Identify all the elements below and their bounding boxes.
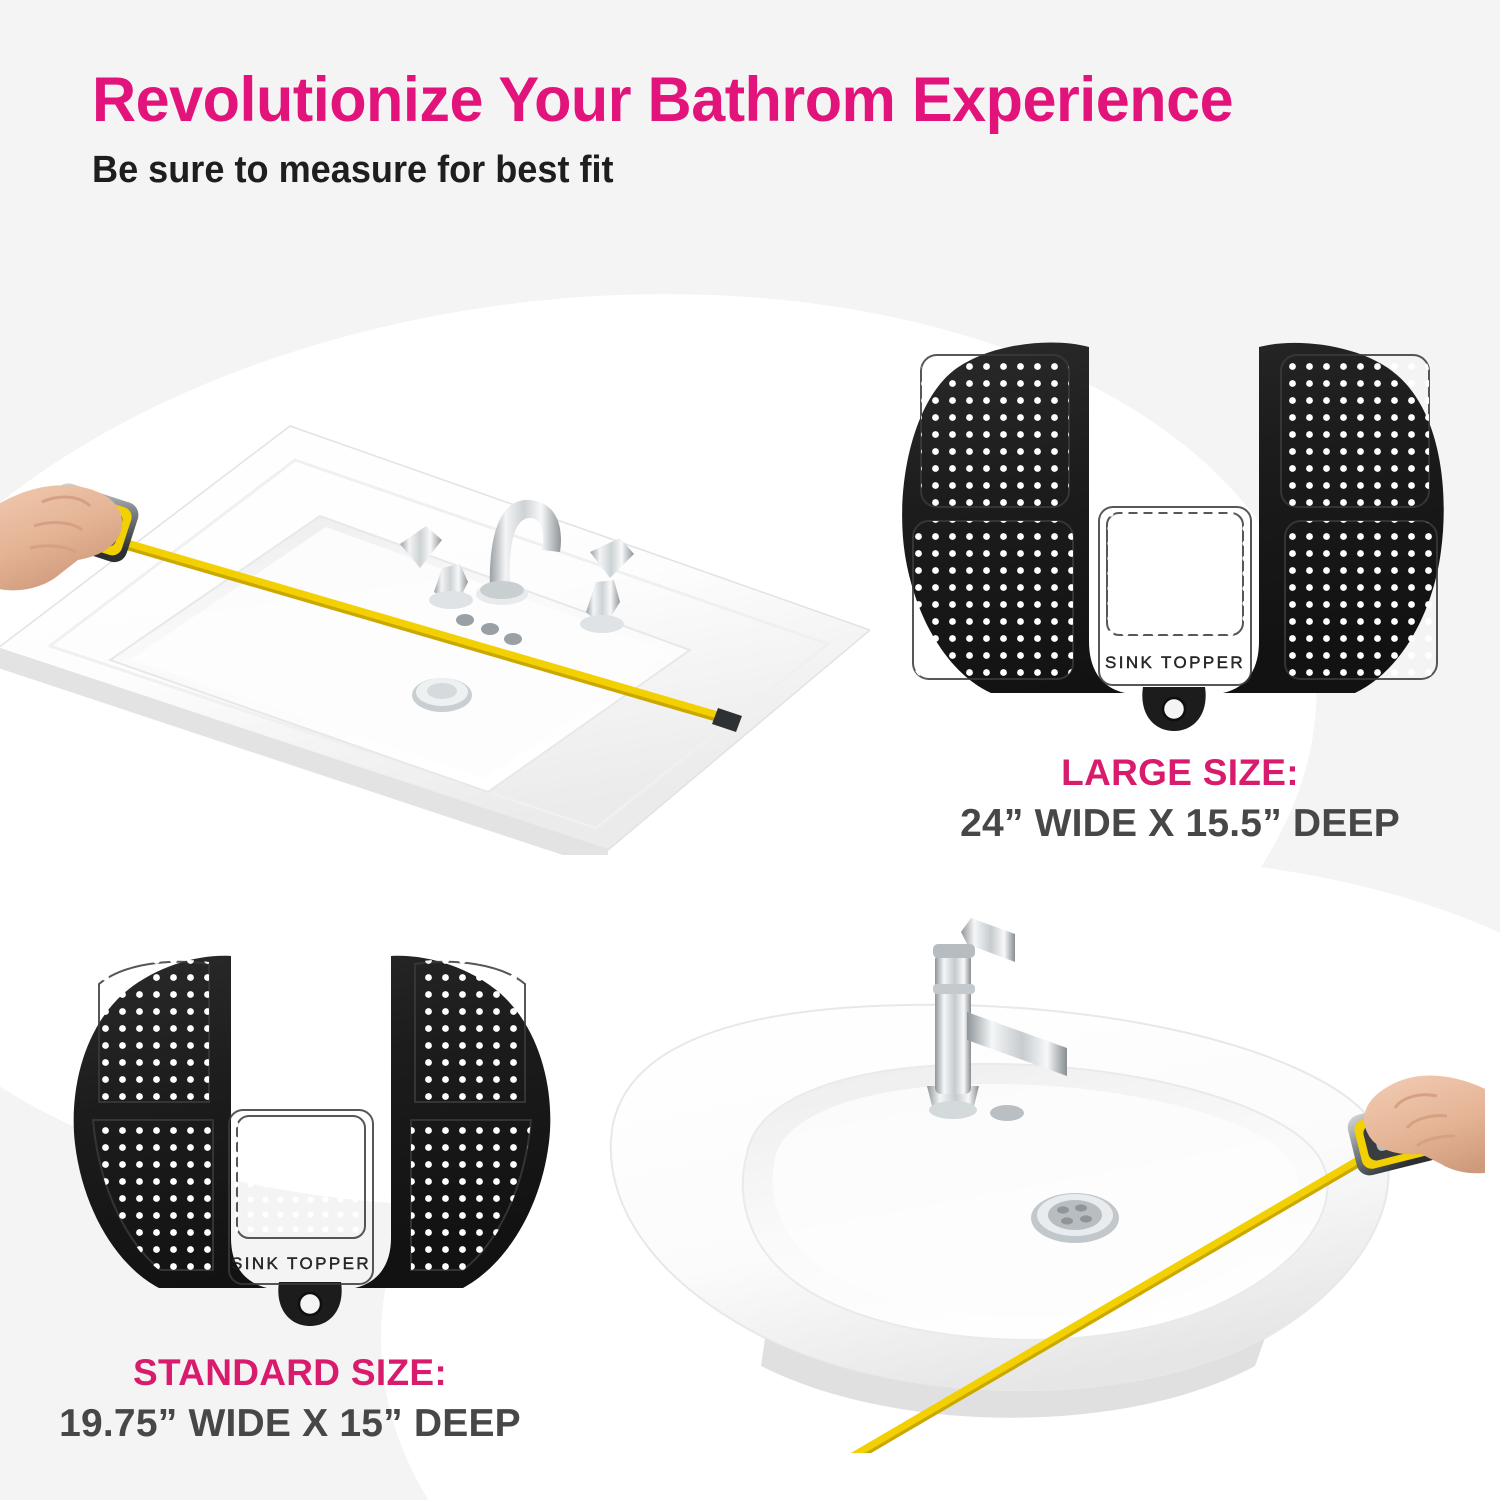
- large-size-label: LARGE SIZE:: [920, 752, 1440, 794]
- large-size-dimensions: 24” WIDE X 15.5” DEEP: [920, 802, 1440, 846]
- large-sink-topper-mat: SINK TOPPER: [893, 341, 1453, 741]
- standard-sink-topper-mat: SINK TOPPER: [63, 952, 563, 1334]
- standard-size-label: STANDARD SIZE:: [30, 1352, 550, 1394]
- product-infographic: Revolutionize Your Bathrom Experience Be…: [0, 0, 1500, 1500]
- headline-block: Revolutionize Your Bathrom Experience Be…: [92, 68, 1432, 191]
- rectangular-sink-photo: [0, 330, 870, 855]
- drain-icon: [1031, 1193, 1119, 1243]
- drain-icon: [412, 678, 472, 712]
- standard-size-dimensions: 19.75” WIDE X 15” DEEP: [30, 1402, 550, 1446]
- standard-size-caption: STANDARD SIZE: 19.75” WIDE X 15” DEEP: [30, 1352, 550, 1446]
- page-title: Revolutionize Your Bathrom Experience: [92, 68, 1392, 134]
- brand-emboss-large: SINK TOPPER: [1105, 653, 1245, 672]
- overflow-slot: [990, 1105, 1024, 1121]
- brand-emboss-standard: SINK TOPPER: [231, 1254, 371, 1273]
- large-size-caption: LARGE SIZE: 24” WIDE X 15.5” DEEP: [920, 752, 1440, 846]
- oval-sink-photo: [575, 888, 1485, 1453]
- page-subtitle: Be sure to measure for best fit: [92, 150, 1365, 192]
